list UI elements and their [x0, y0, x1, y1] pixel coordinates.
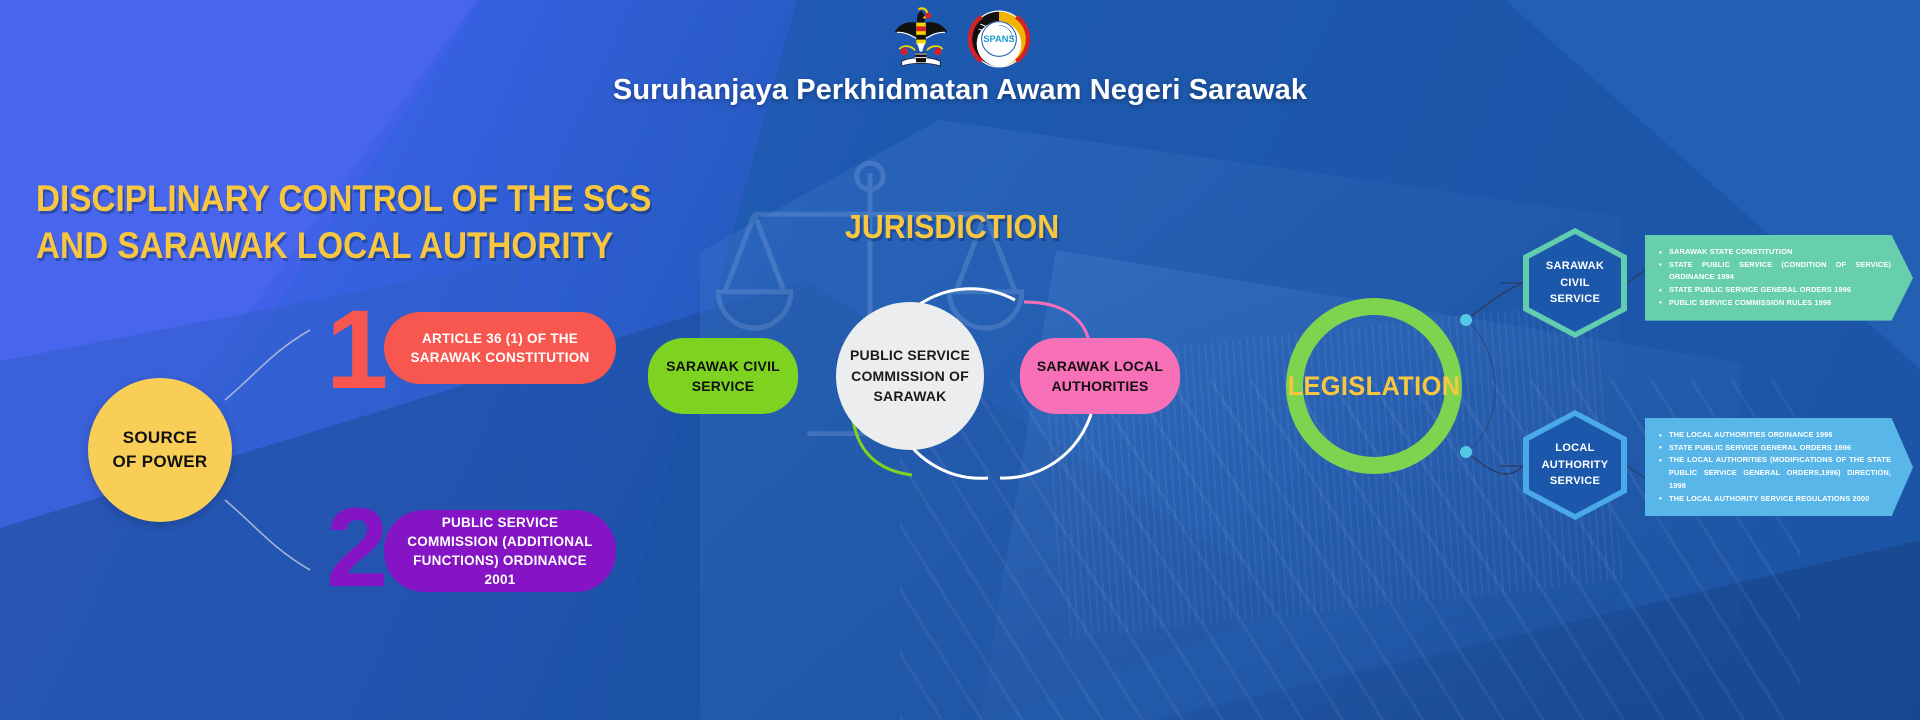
- jurisdiction-group: SARAWAK CIVIL SERVICE PUBLIC SERVICE COM…: [640, 280, 1240, 500]
- logo-group: SPANS: [0, 0, 1920, 72]
- hexagon-las-inner: LOCAL AUTHORITY SERVICE: [1529, 416, 1621, 514]
- node-scs-line2: SERVICE: [692, 376, 755, 396]
- jurisdiction-title: JURISDICTION: [845, 208, 1059, 246]
- psc-line3: SARAWAK: [874, 386, 947, 406]
- hexagon-scs-line3: SERVICE: [1550, 291, 1600, 308]
- source-item-2-number: 2: [326, 500, 388, 595]
- list-item: THE LOCAL AUTHORITIES (MODIFICATIONS OF …: [1659, 454, 1891, 492]
- psc-line2: COMMISSION OF: [851, 366, 969, 386]
- legislation-list-civil-service-items: SARAWAK STATE CONSTITUTION STATE PUBLIC …: [1659, 246, 1891, 310]
- sarawak-state-crest-icon: [890, 6, 952, 72]
- list-item: THE LOCAL AUTHORITIES ORDINANCE 1996: [1659, 429, 1891, 442]
- list-item: STATE PUBLIC SERVICE (CONDITION OF SERVI…: [1659, 259, 1891, 284]
- hexagon-scs-line1: SARAWAK: [1546, 258, 1604, 275]
- list-item: STATE PUBLIC SERVICE GENERAL ORDERS 1996: [1659, 442, 1891, 455]
- source-of-power-label-line1: SOURCE: [123, 426, 198, 450]
- org-title: Suruhanjaya Perkhidmatan Awam Negeri Sar…: [0, 74, 1920, 107]
- legislation-list-civil-service: SARAWAK STATE CONSTITUTION STATE PUBLIC …: [1645, 235, 1913, 321]
- legislation-list-local-authority: THE LOCAL AUTHORITIES ORDINANCE 1996 STA…: [1645, 418, 1913, 516]
- list-item: STATE PUBLIC SERVICE GENERAL ORDERS 1996: [1659, 284, 1891, 297]
- source-item-1[interactable]: 1 ARTICLE 36 (1) OF THE SARAWAK CONSTITU…: [322, 292, 622, 412]
- hexagon-las-line3: SERVICE: [1550, 473, 1600, 490]
- hexagon-scs-line2: CIVIL: [1560, 275, 1590, 292]
- hexagon-scs-inner: SARAWAK CIVIL SERVICE: [1529, 234, 1621, 332]
- hexagon-las-line1: LOCAL: [1555, 440, 1594, 457]
- source-of-power-label-line2: OF POWER: [113, 450, 208, 474]
- source-of-power-node[interactable]: SOURCE OF POWER: [88, 378, 232, 522]
- source-item-1-label: ARTICLE 36 (1) OF THE SARAWAK CONSTITUTI…: [384, 312, 616, 384]
- source-item-1-number: 1: [326, 302, 388, 397]
- legislation-list-local-authority-items: THE LOCAL AUTHORITIES ORDINANCE 1996 STA…: [1659, 429, 1891, 505]
- source-item-2-label: PUBLIC SERVICE COMMISSION (ADDITIONAL FU…: [384, 510, 616, 592]
- node-scs-line1: SARAWAK CIVIL: [666, 356, 780, 376]
- list-item: SARAWAK STATE CONSTITUTION: [1659, 246, 1891, 259]
- source-item-2[interactable]: 2 PUBLIC SERVICE COMMISSION (ADDITIONAL …: [322, 492, 622, 622]
- node-sla-line1: SARAWAK LOCAL: [1037, 356, 1163, 376]
- header: SPANS Suruhanjaya Perkhidmatan Awam Nege…: [0, 0, 1920, 107]
- legislation-label[interactable]: LEGISLATION: [1291, 298, 1456, 474]
- jurisdiction-node-sarawak-local-authorities[interactable]: SARAWAK LOCAL AUTHORITIES: [1020, 338, 1180, 414]
- jurisdiction-node-public-service-commission[interactable]: PUBLIC SERVICE COMMISSION OF SARAWAK: [836, 302, 984, 450]
- node-sla-line2: AUTHORITIES: [1051, 376, 1148, 396]
- list-item: THE LOCAL AUTHORITY SERVICE REGULATIONS …: [1659, 493, 1891, 506]
- list-item: PUBLIC SERVICE COMMISSION RULES 1996: [1659, 297, 1891, 310]
- jurisdiction-node-sarawak-civil-service[interactable]: SARAWAK CIVIL SERVICE: [648, 338, 798, 414]
- page-title: DISCIPLINARY CONTROL OF THE SCS AND SARA…: [36, 176, 651, 270]
- hexagon-las-line2: AUTHORITY: [1542, 457, 1609, 474]
- spans-logo-text: SPANS: [983, 34, 1014, 44]
- psc-line1: PUBLIC SERVICE: [850, 345, 970, 365]
- spans-logo-icon: SPANS: [968, 6, 1030, 72]
